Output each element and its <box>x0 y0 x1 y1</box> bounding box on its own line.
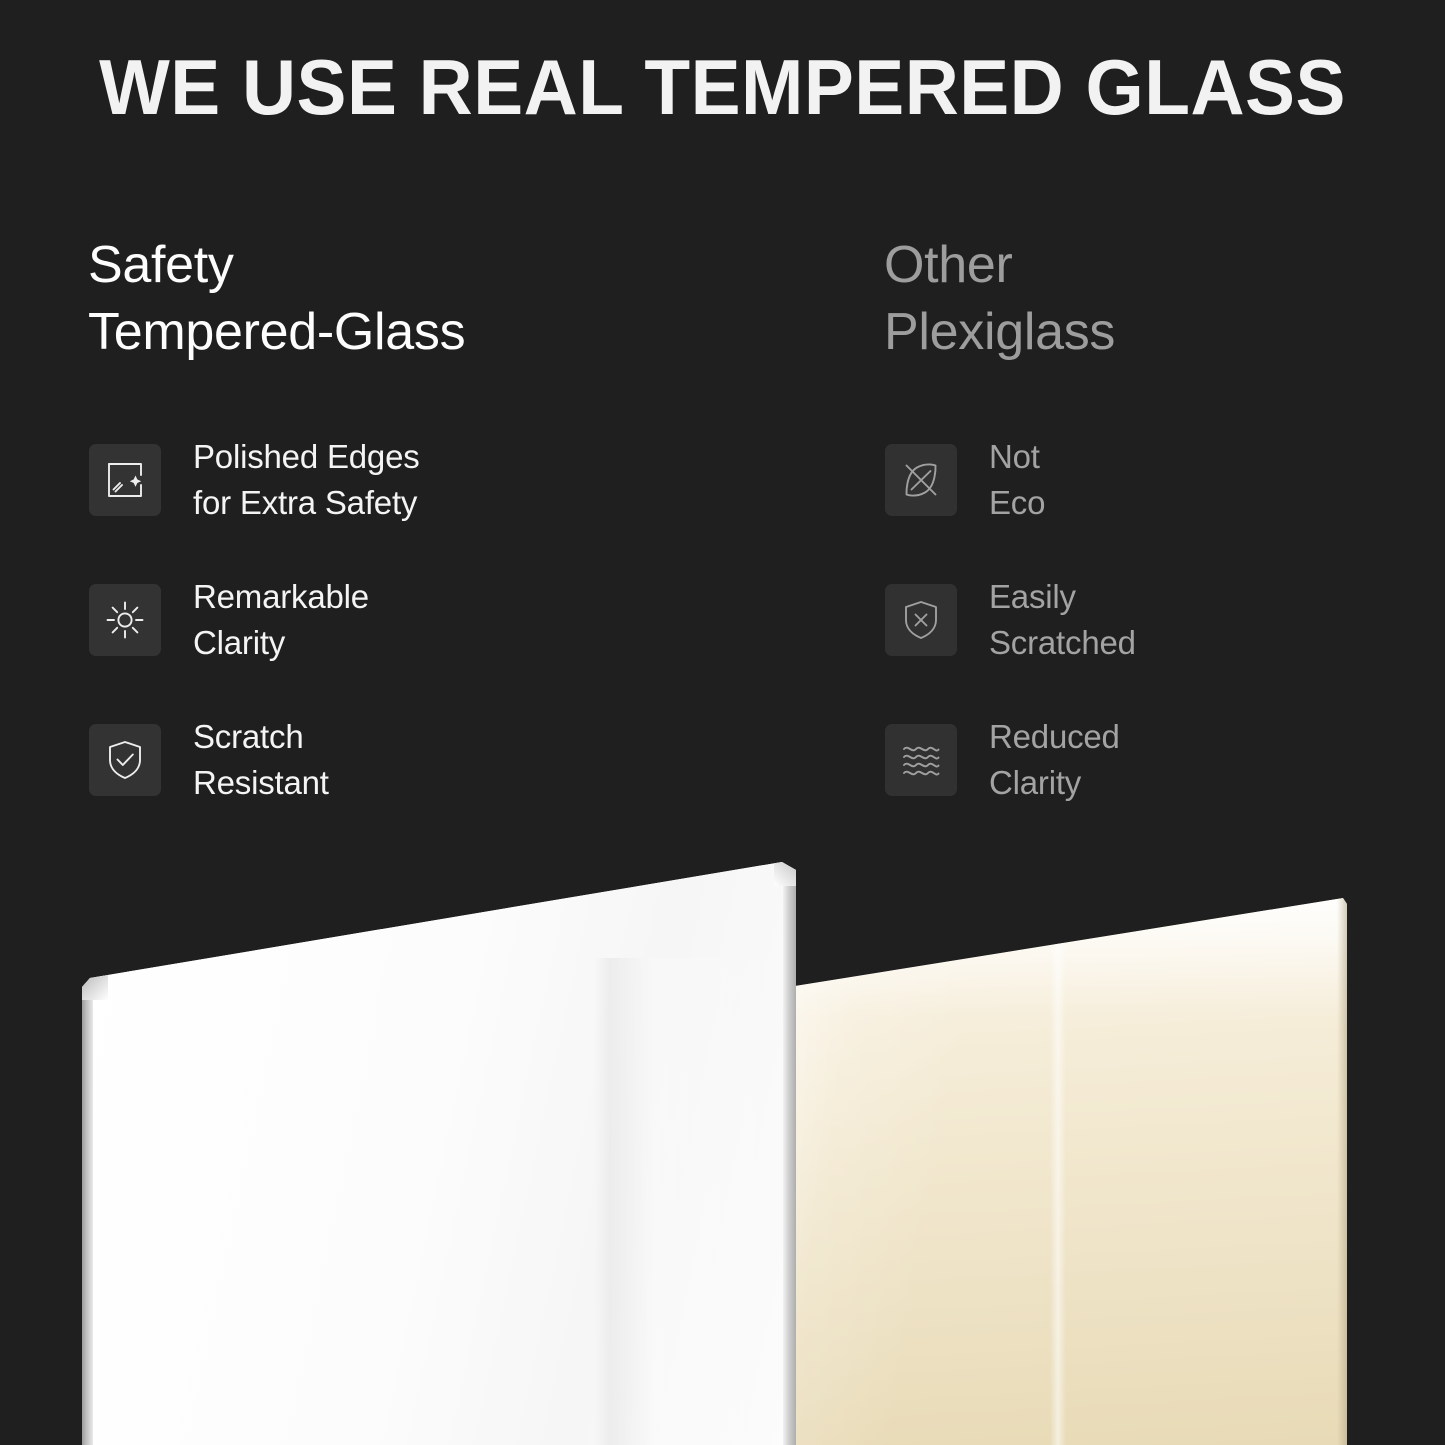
column-safety-tempered-glass: Safety Tempered-Glass Polished Edges for… <box>88 232 788 365</box>
feature-label-not-eco: Not Eco <box>989 434 1045 525</box>
feature-label-remarkable-clarity: Remarkable Clarity <box>193 574 369 665</box>
shield-x-icon <box>885 584 957 656</box>
feature-scratch-resistant: Scratch Resistant <box>89 724 420 796</box>
glass-left-bevel-edge <box>82 980 93 1445</box>
column-title-left: Safety Tempered-Glass <box>88 232 788 365</box>
plexiglass-panel-cream <box>795 898 1347 1445</box>
page-title: WE USE REAL TEMPERED GLASS <box>29 42 1416 133</box>
plexi-top-highlight <box>795 898 1347 1018</box>
column-title-right: Other Plexiglass <box>884 232 1404 365</box>
plexi-right-edge <box>1337 898 1347 1445</box>
plexi-reflection-band <box>1050 898 1066 1445</box>
glass-corner-top-left <box>82 974 108 1000</box>
sun-clarity-icon <box>89 584 161 656</box>
feature-not-eco: Not Eco <box>885 444 1136 516</box>
glass-top-bevel-edge <box>88 862 793 878</box>
feature-label-reduced-clarity: Reduced Clarity <box>989 714 1120 805</box>
feature-label-scratch-resistant: Scratch Resistant <box>193 714 329 805</box>
feature-label-easily-scratched: Easily Scratched <box>989 574 1136 665</box>
feature-label-polished-edges: Polished Edges for Extra Safety <box>193 434 420 525</box>
feature-polished-edges: Polished Edges for Extra Safety <box>89 444 420 516</box>
tempered-glass-panel-white <box>82 862 796 1445</box>
glass-reflection-band <box>594 958 794 1445</box>
polished-edge-sparkle-icon <box>89 444 161 516</box>
glass-right-bevel-edge <box>783 866 796 1445</box>
wavy-lines-icon <box>885 724 957 796</box>
feature-list-left: Polished Edges for Extra Safety <box>89 444 420 796</box>
product-photo <box>0 840 1445 1445</box>
feature-list-right: Not Eco Easily Scratched <box>885 444 1136 796</box>
feature-easily-scratched: Easily Scratched <box>885 584 1136 656</box>
feature-reduced-clarity: Reduced Clarity <box>885 724 1136 796</box>
shield-check-icon <box>89 724 161 796</box>
tempered-glass-comparison-poster: WE USE REAL TEMPERED GLASS Safety Temper… <box>0 0 1445 1445</box>
feature-remarkable-clarity: Remarkable Clarity <box>89 584 420 656</box>
glass-corner-top-right <box>774 862 796 886</box>
column-other-plexiglass: Other Plexiglass Not Eco <box>884 232 1404 365</box>
leaf-crossed-out-icon <box>885 444 957 516</box>
